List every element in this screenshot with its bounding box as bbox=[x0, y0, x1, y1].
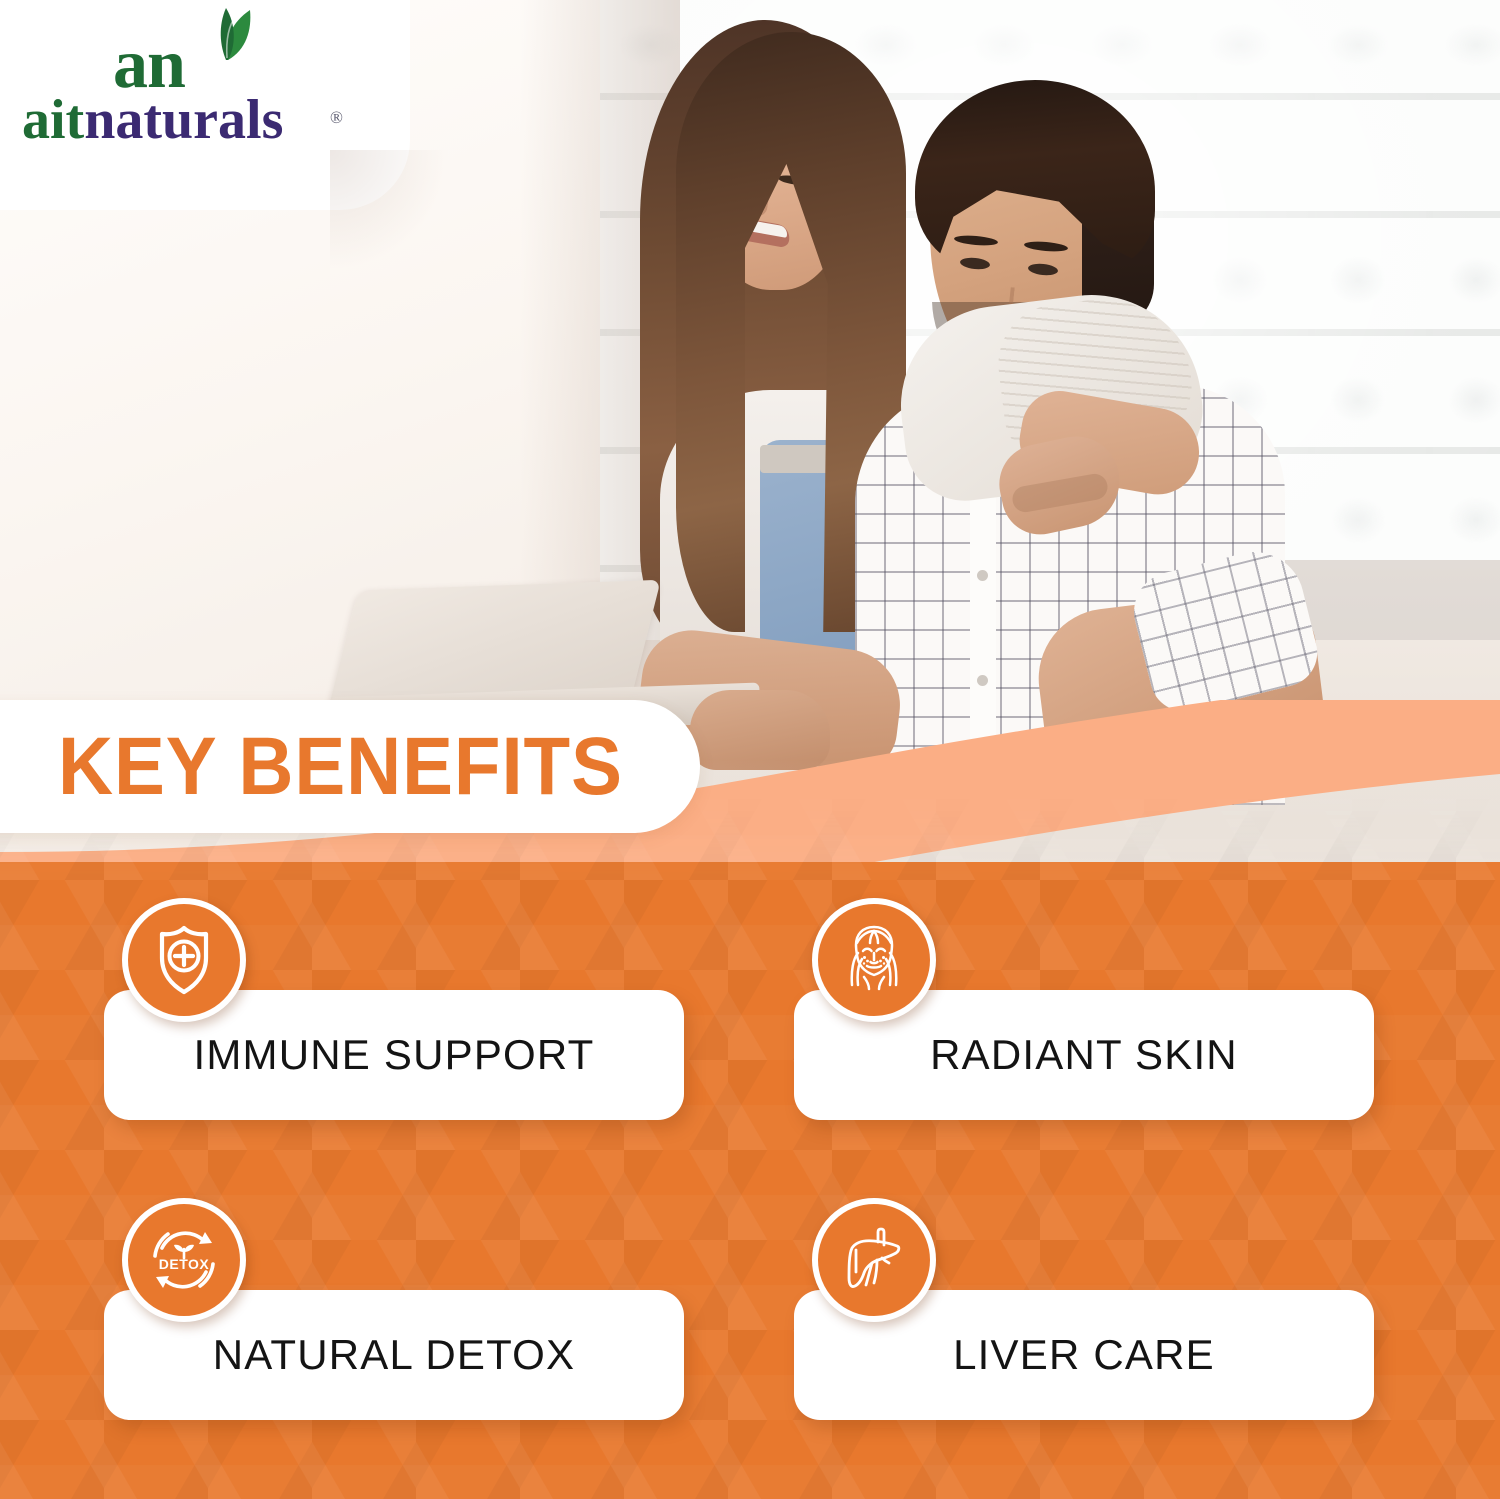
brand-logo: an aitnaturals ® bbox=[0, 0, 370, 180]
logo-naturals: naturals bbox=[84, 89, 283, 151]
detox-cycle-glyph: DETOX bbox=[142, 1218, 226, 1302]
benefit-label: IMMUNE SUPPORT bbox=[193, 1031, 594, 1079]
laptop-screen bbox=[329, 580, 661, 705]
logo-wordmark: aitnaturals bbox=[22, 92, 283, 148]
benefit-cell-liver-care: LIVER CARE bbox=[794, 1290, 1374, 1420]
product-benefits-poster: an aitnaturals ® KEY BENEFITS IMMUNE SUP… bbox=[0, 0, 1500, 1499]
benefit-cell-natural-detox: NATURAL DETOX bbox=[104, 1290, 684, 1420]
face-skincare-glyph bbox=[833, 919, 915, 1001]
benefit-label: RADIANT SKIN bbox=[930, 1031, 1238, 1079]
registered-trademark-mark: ® bbox=[330, 108, 343, 128]
key-benefits-banner: KEY BENEFITS bbox=[0, 700, 700, 833]
man-shirt-button bbox=[977, 675, 988, 686]
detox-icon-caption: DETOX bbox=[159, 1256, 210, 1272]
liver-glyph bbox=[834, 1220, 914, 1300]
key-benefits-title: KEY BENEFITS bbox=[58, 720, 623, 814]
logo-ait: ait bbox=[22, 89, 84, 151]
brand-logo-card: an aitnaturals ® bbox=[0, 0, 410, 210]
face-skincare-icon bbox=[812, 898, 936, 1022]
shield-plus-glyph bbox=[144, 920, 224, 1000]
leaf-icon bbox=[196, 4, 258, 66]
benefit-cell-immune-support: IMMUNE SUPPORT bbox=[104, 990, 684, 1120]
benefit-label: NATURAL DETOX bbox=[213, 1331, 576, 1379]
benefit-cell-radiant-skin: RADIANT SKIN bbox=[794, 990, 1374, 1120]
liver-icon bbox=[812, 1198, 936, 1322]
detox-cycle-icon: DETOX bbox=[122, 1198, 246, 1322]
shield-plus-icon bbox=[122, 898, 246, 1022]
benefit-label: LIVER CARE bbox=[953, 1331, 1215, 1379]
benefits-grid: IMMUNE SUPPORT RADIANT SKIN bbox=[0, 862, 1500, 1499]
man-shirt-button bbox=[977, 570, 988, 581]
